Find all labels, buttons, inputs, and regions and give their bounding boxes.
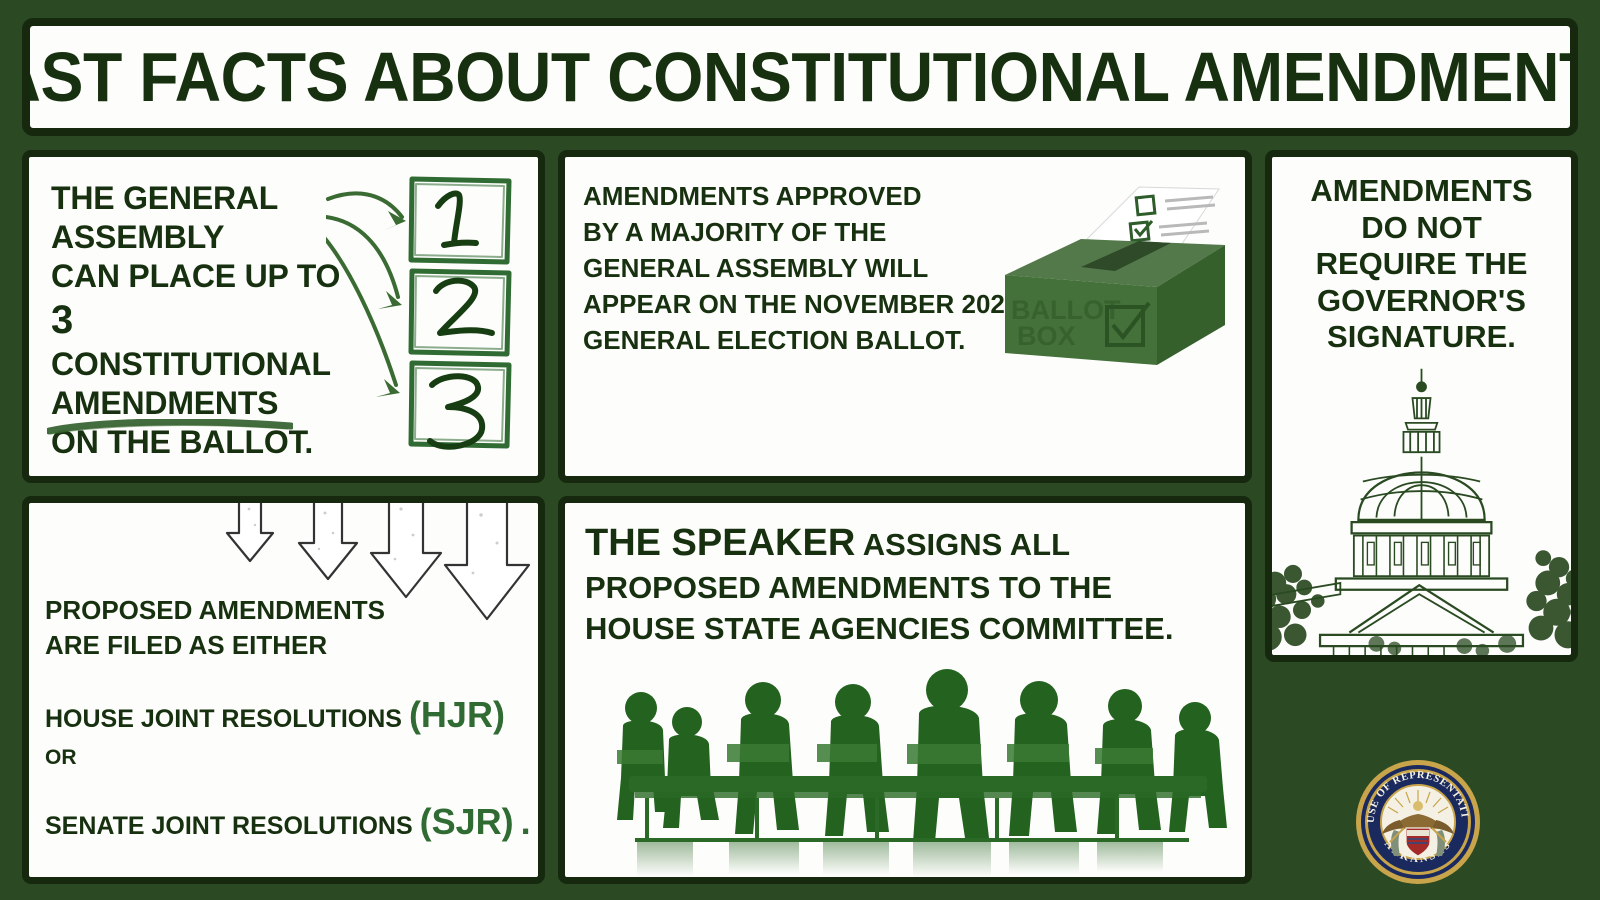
assembly-line-1: THE GENERAL ASSEMBLY: [51, 180, 278, 255]
governor-statement: AMENDMENTS DO NOT REQUIRE THE GOVERNOR'S…: [1302, 157, 1540, 362]
card-speaker-committee: THE SPEAKER ASSIGNS ALL PROPOSED AMENDME…: [558, 496, 1252, 884]
governor-line-1: AMENDMENTS: [1310, 173, 1532, 210]
card-proposed-resolutions: PROPOSED AMENDMENTS ARE FILED AS EITHER …: [22, 496, 545, 884]
speaker-rest-1: ASSIGNS ALL: [863, 527, 1070, 562]
governor-line-2: DO NOT: [1310, 210, 1532, 247]
ballot-box-label-line2: BOX: [1017, 321, 1076, 351]
card-ballot-election: AMENDMENTS APPROVED BY A MAJORITY OF THE…: [558, 150, 1252, 483]
speaker-emphasis: THE SPEAKER: [585, 522, 855, 564]
speaker-statement: THE SPEAKER ASSIGNS ALL PROPOSED AMENDME…: [585, 519, 1225, 649]
card-general-assembly: THE GENERAL ASSEMBLYCAN PLACE UP TO 3CON…: [22, 150, 545, 483]
content-grid: THE GENERAL ASSEMBLYCAN PLACE UP TO 3CON…: [22, 150, 1578, 884]
assembly-line-3: CONSTITUTIONAL: [51, 346, 331, 382]
ballot-line-2: BY A MAJORITY OF THE: [583, 215, 1033, 251]
resolutions-line-4: SENATE JOINT RESOLUTIONS (SJR) .: [45, 798, 535, 847]
resolutions-line-2: ARE FILED AS EITHER: [45, 628, 535, 663]
resolutions-line-1: PROPOSED AMENDMENTS: [45, 593, 535, 628]
page-title: FAST FACTS ABOUT CONSTITUTIONAL AMENDMEN…: [22, 42, 1578, 112]
ballot-line-1: AMENDMENTS APPROVED: [583, 179, 1033, 215]
resolutions-period: .: [521, 801, 531, 842]
assembly-line-4: AMENDMENTS: [51, 385, 278, 421]
governor-line-5: SIGNATURE.: [1310, 319, 1532, 356]
speaker-line-3: HOUSE STATE AGENCIES COMMITTEE.: [585, 609, 1225, 649]
assembly-number-three: 3: [51, 298, 73, 342]
resolutions-sjr-abbr: (SJR): [420, 801, 514, 842]
state-capitol-building-icon: [1272, 362, 1571, 655]
governor-line-3: REQUIRE THE: [1310, 246, 1532, 283]
ballot-box-icon: BALLOT BOX: [989, 167, 1239, 382]
resolutions-line-3: HOUSE JOINT RESOLUTIONS (HJR) OR: [45, 691, 535, 773]
assembly-line-2-pre: CAN PLACE UP TO: [51, 258, 340, 294]
handdrawn-underline-icon: [47, 419, 293, 435]
ballot-line-4: APPEAR ON THE NOVEMBER 2022: [583, 287, 1033, 323]
resolutions-house-label: HOUSE JOINT RESOLUTIONS: [45, 705, 402, 733]
arkansas-house-of-representatives-seal: HOUSE OF REPRESENTATIVES ARKANSAS: [1354, 758, 1482, 886]
card-governor-signature: AMENDMENTS DO NOT REQUIRE THE GOVERNOR'S…: [1265, 150, 1578, 662]
title-bar: FAST FACTS ABOUT CONSTITUTIONAL AMENDMEN…: [22, 18, 1578, 136]
ballot-statement: AMENDMENTS APPROVED BY A MAJORITY OF THE…: [583, 179, 1033, 358]
resolutions-hjr-abbr: (HJR): [409, 694, 505, 735]
infographic-root: FAST FACTS ABOUT CONSTITUTIONAL AMENDMEN…: [0, 0, 1600, 900]
resolutions-statement: PROPOSED AMENDMENTS ARE FILED AS EITHER …: [45, 593, 535, 846]
resolutions-senate-label: SENATE JOINT RESOLUTIONS: [45, 812, 413, 840]
speaker-line-2: PROPOSED AMENDMENTS TO THE: [585, 568, 1225, 608]
governor-line-4: GOVERNOR'S: [1310, 283, 1532, 320]
ballot-line-5: GENERAL ELECTION BALLOT.: [583, 323, 1033, 359]
resolutions-or: OR: [45, 746, 77, 769]
ballot-line-3: GENERAL ASSEMBLY WILL: [583, 251, 1033, 287]
committee-meeting-silhouette-icon: [577, 652, 1227, 877]
numbered-checkbox-list-icon: [326, 173, 516, 463]
speaker-line-1: THE SPEAKER ASSIGNS ALL: [585, 519, 1225, 568]
